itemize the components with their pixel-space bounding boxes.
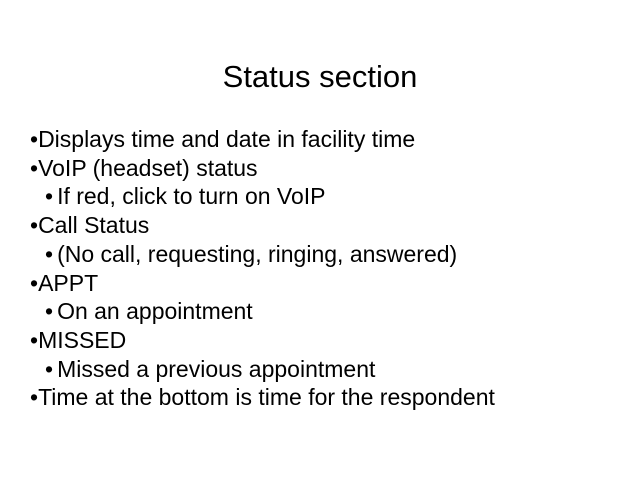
- list-item-label: If red, click to turn on VoIP: [57, 183, 325, 209]
- list-item: •APPT: [0, 269, 640, 298]
- list-item-label: On an appointment: [57, 298, 253, 324]
- list-item-label: Time at the bottom is time for the respo…: [38, 384, 495, 410]
- list-item: •Call Status: [0, 211, 640, 240]
- slide-body: •Displays time and date in facility time…: [0, 125, 640, 412]
- bullet-icon: •: [30, 211, 38, 240]
- list-item-label: Call Status: [38, 212, 149, 238]
- list-item: •Displays time and date in facility time: [0, 125, 640, 154]
- bullet-icon: •: [30, 326, 38, 355]
- bullet-icon: •: [30, 154, 38, 183]
- list-item-label: APPT: [38, 270, 98, 296]
- list-item: •Time at the bottom is time for the resp…: [0, 383, 640, 412]
- bullet-icon: •: [30, 269, 38, 298]
- list-item: •Missed a previous appointment: [0, 355, 640, 384]
- list-item-label: MISSED: [38, 327, 126, 353]
- list-item: •MISSED: [0, 326, 640, 355]
- list-item: •(No call, requesting, ringing, answered…: [0, 240, 640, 269]
- list-item-label: Displays time and date in facility time: [38, 126, 415, 152]
- bullet-icon: •: [45, 240, 53, 269]
- list-item: •VoIP (headset) status: [0, 154, 640, 183]
- bullet-icon: •: [30, 125, 38, 154]
- page-title: Status section: [0, 59, 640, 95]
- bullet-icon: •: [45, 297, 53, 326]
- list-item: •If red, click to turn on VoIP: [0, 182, 640, 211]
- list-item-label: VoIP (headset) status: [38, 155, 258, 181]
- slide-canvas: Status section •Displays time and date i…: [0, 0, 640, 480]
- bullet-icon: •: [45, 182, 53, 211]
- list-item-label: Missed a previous appointment: [57, 356, 375, 382]
- bullet-list: •Displays time and date in facility time…: [0, 125, 640, 412]
- list-item: •On an appointment: [0, 297, 640, 326]
- bullet-icon: •: [30, 383, 38, 412]
- bullet-icon: •: [45, 355, 53, 384]
- list-item-label: (No call, requesting, ringing, answered): [57, 241, 457, 267]
